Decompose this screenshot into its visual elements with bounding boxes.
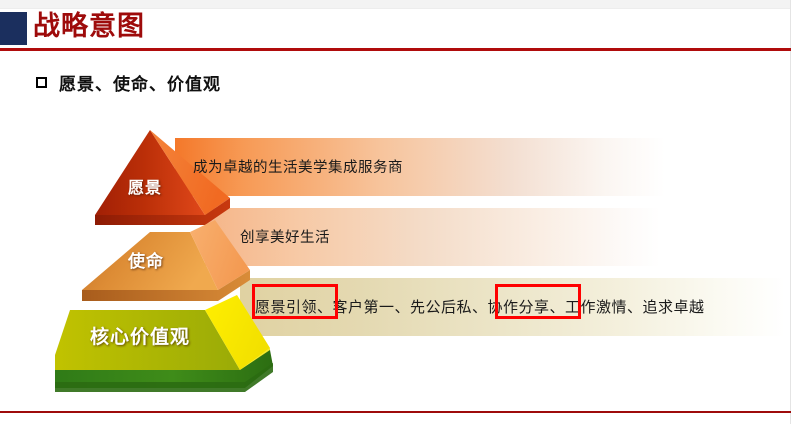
top-strip [0, 0, 791, 9]
square-bullet-icon [36, 77, 47, 88]
bullet-label: 愿景、使命、价值观 [59, 70, 221, 95]
header-divider [0, 48, 791, 51]
pyramid-diagram: 愿景 使命 核心价值观 成为卓越的生活美学集成服务商 创享美好生活 愿景引领、客… [0, 120, 791, 405]
tier-label-core-values: 核心价值观 [90, 322, 190, 349]
tier-label-vision: 愿景 [128, 174, 162, 198]
highlight-box-vision-led [252, 284, 338, 319]
tier-text-vision: 成为卓越的生活美学集成服务商 [193, 156, 403, 177]
tier-text-mission: 创享美好生活 [240, 226, 330, 247]
page-title: 战略意图 [33, 10, 145, 44]
bullet-row: 愿景、使命、价值观 [36, 70, 221, 95]
header-accent-square [0, 12, 27, 45]
tier-label-mission: 使命 [128, 247, 164, 272]
slide-canvas: 战略意图 愿景、使命、价值观 [0, 0, 791, 424]
highlight-box-collaboration [495, 284, 581, 319]
footer-divider [0, 411, 791, 413]
